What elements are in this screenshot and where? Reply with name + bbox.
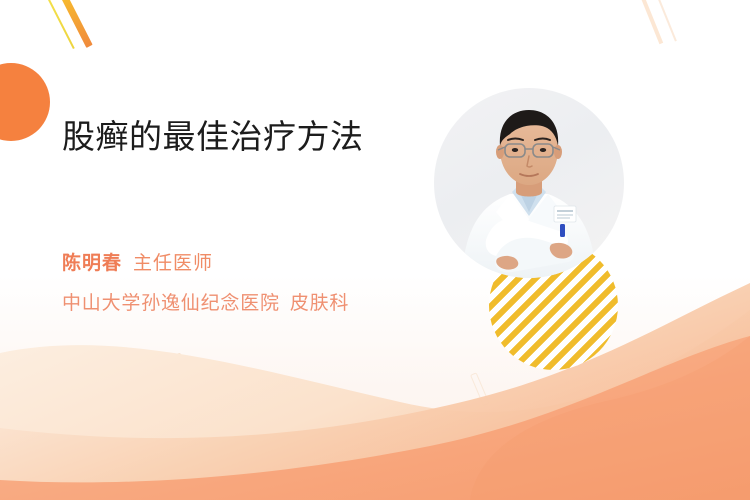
- hospital-name: 中山大学孙逸仙纪念医院: [62, 292, 280, 314]
- diagonal-stripe-orange-icon: [61, 0, 93, 48]
- portrait-illustration: [434, 88, 624, 278]
- title-block: 股癣的最佳治疗方法: [62, 116, 412, 158]
- page-title: 股癣的最佳治疗方法: [62, 116, 412, 158]
- wave-layer-mid: [0, 283, 750, 500]
- diagonal-stripe-outline-icon: [172, 352, 197, 396]
- orange-circle-decoration: [0, 63, 50, 141]
- diagonal-stripe-yellow-icon: [48, 0, 75, 49]
- video-cover-slide: 股癣的最佳治疗方法 陈明春主任医师 中山大学孙逸仙纪念医院皮肤科: [0, 0, 750, 500]
- diagonal-stripe-faint-right-icon: [640, 0, 663, 44]
- doctor-byline: 陈明春主任医师: [62, 248, 213, 275]
- wave-layer-accent: [470, 336, 750, 500]
- department-name: 皮肤科: [290, 292, 349, 314]
- doctor-rank: 主任医师: [133, 252, 213, 274]
- wave-layer-light: [0, 310, 750, 500]
- diagonal-stripe-outline-2-icon: [470, 372, 490, 406]
- doctor-affiliation: 中山大学孙逸仙纪念医院皮肤科: [62, 288, 349, 315]
- doctor-name: 陈明春: [62, 252, 122, 274]
- wave-layer-salmon: [0, 336, 750, 500]
- doctor-portrait: [434, 88, 624, 278]
- diagonal-stripe-faint-right-2-icon: [657, 0, 677, 42]
